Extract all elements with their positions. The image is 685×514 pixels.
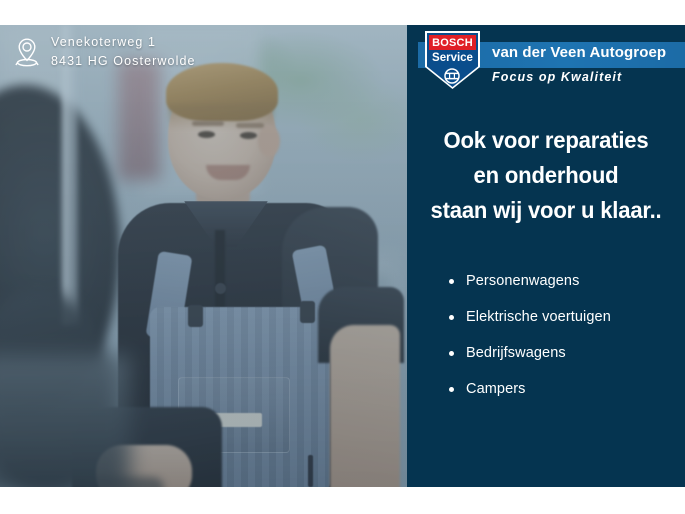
photo-color-grade-overlay — [0, 25, 407, 487]
bullet-dot — [449, 387, 454, 392]
address-line-2: 8431 HG Oosterwolde — [51, 52, 196, 71]
advertisement-banner: Venekoterweg 1 8431 HG Oosterwolde BOSCH… — [0, 25, 685, 487]
list-item-label: Bedrijfswagens — [466, 345, 566, 361]
list-item-label: Personenwagens — [466, 273, 579, 289]
service-wordmark: Service — [429, 50, 476, 65]
bosch-service-logo: BOSCH Service — [425, 31, 480, 89]
list-item: Campers — [449, 381, 685, 398]
panel-header: BOSCH Service van der Veen Autogroep Foc… — [407, 25, 685, 95]
info-panel: BOSCH Service van der Veen Autogroep Foc… — [407, 25, 685, 487]
address-block: Venekoterweg 1 8431 HG Oosterwolde — [14, 33, 196, 71]
headline-line-1: Ook voor reparaties — [413, 123, 680, 158]
service-list: Personenwagens Elektrische voertuigen Be… — [449, 273, 685, 417]
headline-line-3: staan wij voor u klaar.. — [413, 193, 680, 228]
list-item: Personenwagens — [449, 273, 685, 290]
list-item: Elektrische voertuigen — [449, 309, 685, 326]
brand-name: van der Veen Autogroep — [492, 44, 666, 61]
bosch-wordmark: BOSCH — [429, 35, 476, 50]
bosch-armature-icon — [444, 68, 460, 84]
brand-tagline: Focus op Kwaliteit — [492, 70, 622, 84]
bullet-dot — [449, 279, 454, 284]
list-item-label: Elektrische voertuigen — [466, 309, 611, 325]
list-item: Bedrijfswagens — [449, 345, 685, 362]
bullet-dot — [449, 315, 454, 320]
mechanic-photo: Venekoterweg 1 8431 HG Oosterwolde — [0, 25, 407, 487]
list-item-label: Campers — [466, 381, 526, 397]
bullet-dot — [449, 351, 454, 356]
headline: Ook voor reparaties en onderhoud staan w… — [407, 123, 685, 228]
headline-line-2: en onderhoud — [413, 158, 680, 193]
map-pin-icon — [14, 37, 40, 67]
address-lines: Venekoterweg 1 8431 HG Oosterwolde — [51, 33, 196, 71]
address-line-1: Venekoterweg 1 — [51, 33, 196, 52]
